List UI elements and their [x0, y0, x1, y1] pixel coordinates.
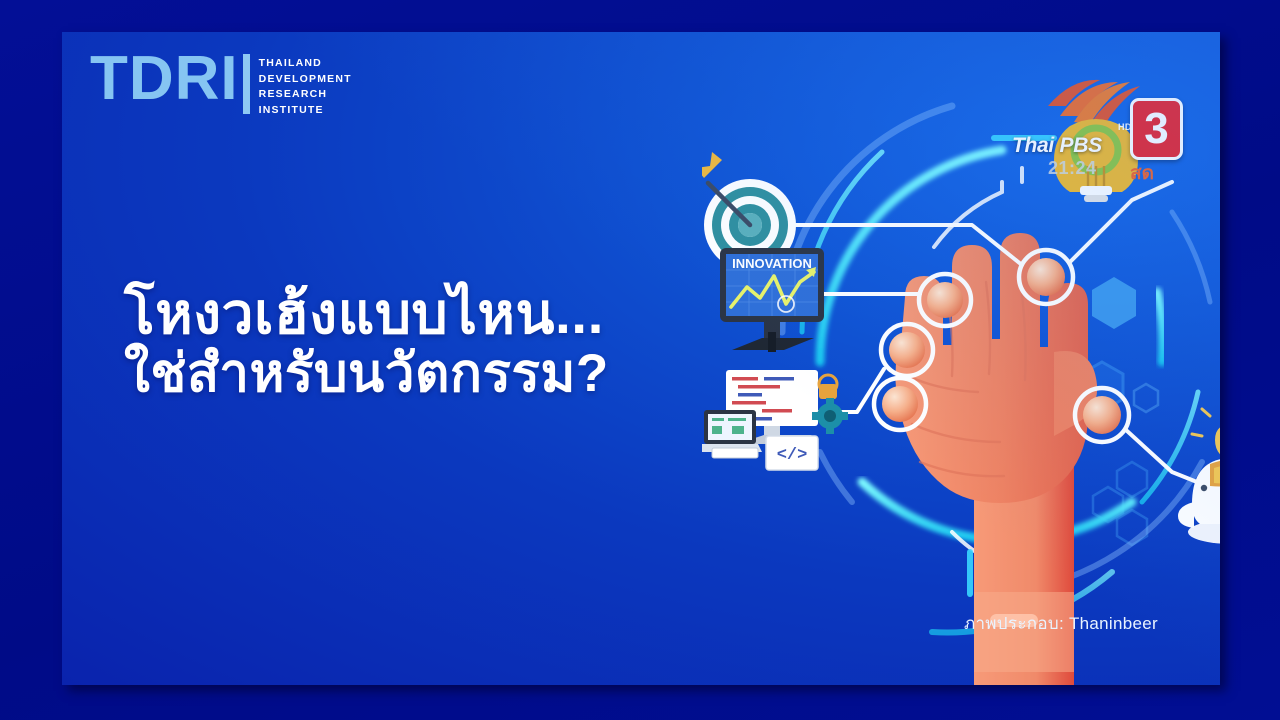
headline-line-1: โหงวเฮ้งแบบไหน... [124, 284, 609, 344]
fingertip-node-5 [1075, 388, 1129, 442]
tdri-wordmark: TDRI [90, 50, 239, 107]
illustration-credit: ภาพประกอบ: Thaninbeer [964, 610, 1158, 637]
tdri-subtitle-line-2: DEVELOPMENT [259, 72, 352, 88]
page-title: โหงวเฮ้งแบบไหน... ใช่สำหรับนวัตกรรม? [124, 284, 609, 405]
headline-line-2: ใช่สำหรับนวัตกรรม? [124, 344, 609, 404]
code-tag-label: </> [777, 446, 808, 465]
channel-number-badge: 3 [1130, 98, 1183, 160]
slide-outer-frame: INNOVATION [0, 0, 1280, 720]
innovation-monitor-label: INNOVATION [732, 256, 812, 271]
clock-display: 21:24 [1048, 158, 1097, 179]
broadcast-watermark: Thai PBS HD 3 21:24 สด [1002, 60, 1212, 210]
tdri-subtitle: THAILAND DEVELOPMENT RESEARCH INSTITUTE [259, 50, 352, 118]
thaipbs-channel-name: Thai PBS [1012, 134, 1102, 158]
tdri-subtitle-line-1: THAILAND [259, 56, 352, 72]
channel-number-label: 3 [1144, 107, 1168, 151]
innovation-monitor-icon: INNOVATION [720, 248, 824, 352]
live-badge: สด [1130, 158, 1154, 188]
tdri-divider-bar [243, 54, 250, 114]
slide-canvas: INNOVATION [62, 32, 1220, 685]
tdri-logo: TDRI THAILAND DEVELOPMENT RESEARCH INSTI… [90, 50, 352, 118]
tdri-subtitle-line-4: INSTITUTE [259, 103, 352, 119]
fingertip-node-1 [1019, 250, 1073, 304]
tdri-subtitle-line-3: RESEARCH [259, 87, 352, 103]
code-laptop-icon: </> [702, 370, 848, 470]
